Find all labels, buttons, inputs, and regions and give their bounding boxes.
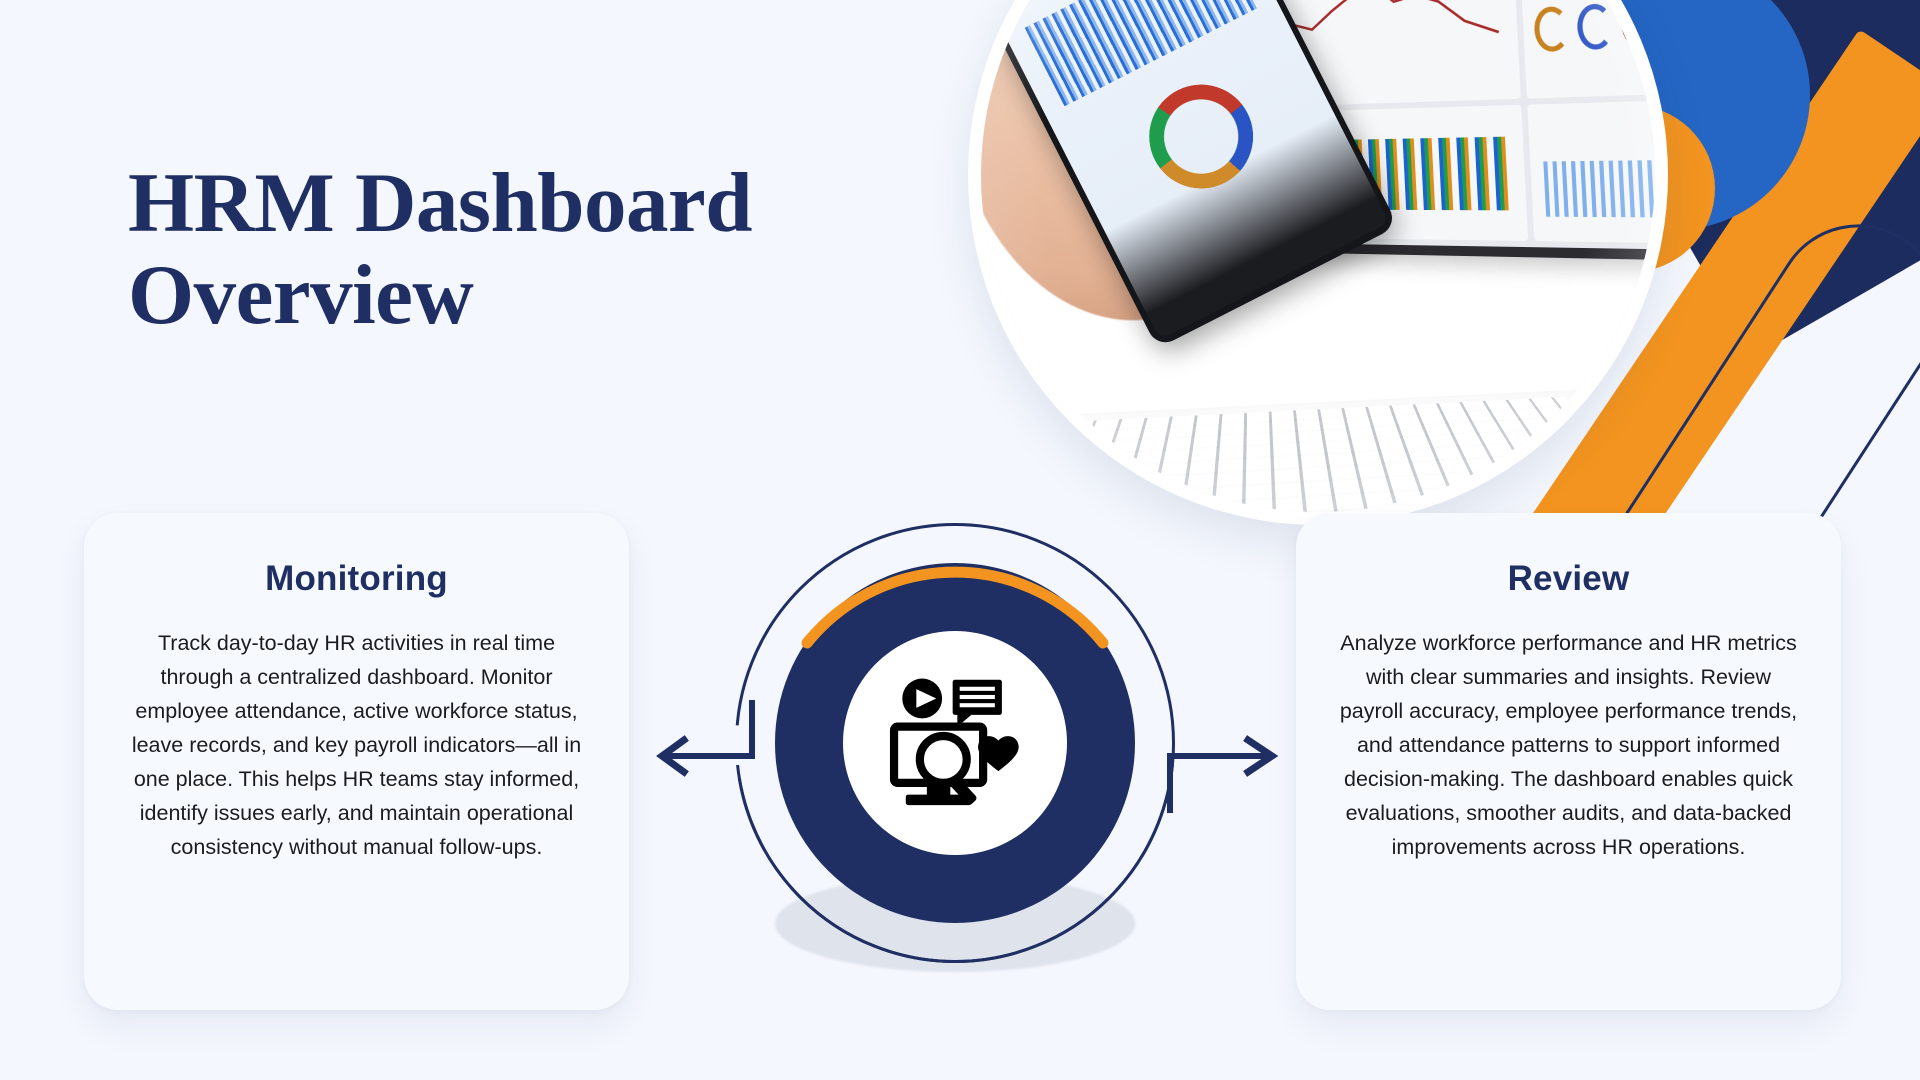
- page-title-line-1: HRM Dashboard: [128, 156, 752, 250]
- photo-bar-series-2: [1541, 160, 1655, 218]
- arrow-right-elbow: [1160, 700, 1290, 820]
- hero-photo: [981, 0, 1655, 512]
- photo-gauge-60: [1533, 6, 1570, 53]
- photo-phone-donut: [1132, 67, 1272, 207]
- photo-chart-gauges: [1520, 0, 1655, 99]
- card-monitoring-title: Monitoring: [122, 559, 591, 599]
- photo-chart-bar2: [1527, 99, 1655, 244]
- hero-photo-circle: [968, 0, 1668, 525]
- speech-bubble-icon: [953, 680, 1002, 727]
- photo-line-svg: [1271, 0, 1518, 56]
- play-button-icon: [902, 679, 942, 719]
- card-monitoring[interactable]: Monitoring Track day-to-day HR activitie…: [84, 513, 629, 1010]
- card-review-body: Analyze workforce performance and HR met…: [1334, 627, 1803, 865]
- page-title: HRM Dashboard Overview: [128, 158, 948, 342]
- arrow-left-elbow: [648, 700, 768, 820]
- photo-gauge-group: [1531, 0, 1655, 85]
- emblem-icon-cluster: [880, 668, 1030, 818]
- page-title-line-2: Overview: [128, 250, 948, 342]
- card-review[interactable]: Review Analyze workforce performance and…: [1296, 513, 1841, 1010]
- card-monitoring-body: Track day-to-day HR activities in real t…: [122, 627, 591, 865]
- center-emblem: [735, 523, 1175, 963]
- photo-gauge-75: [1576, 3, 1614, 51]
- photo-keys: [981, 397, 1655, 512]
- photo-gauge-39: [1620, 1, 1655, 49]
- card-review-title: Review: [1334, 559, 1803, 599]
